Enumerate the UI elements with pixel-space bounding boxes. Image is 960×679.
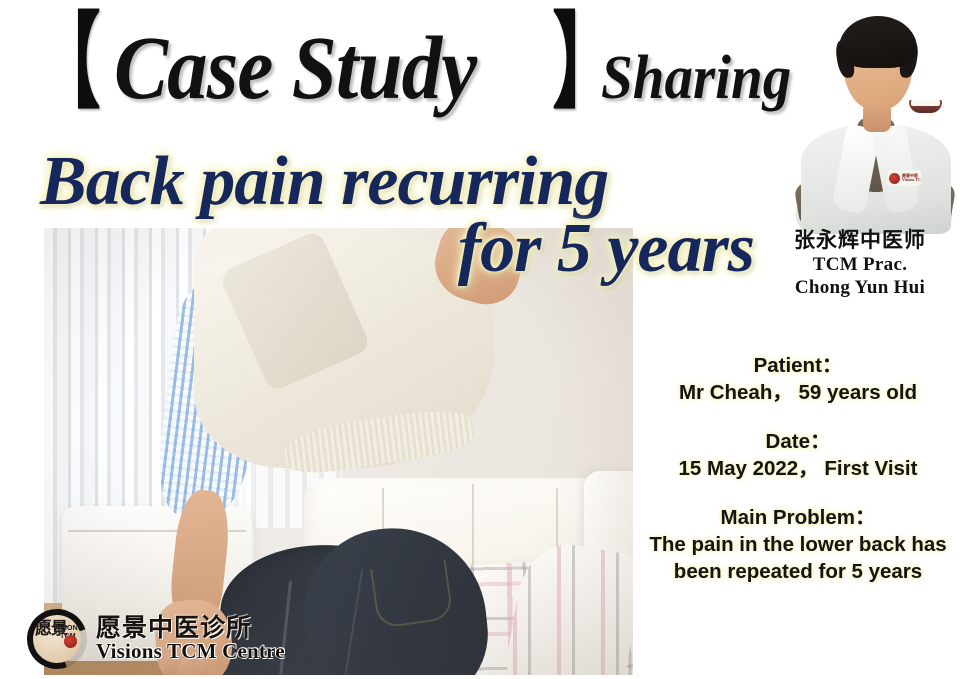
bracket-open-icon: 【	[36, 12, 100, 116]
practitioner-hair	[839, 16, 917, 68]
detail-patient-label: Patient：	[636, 352, 960, 379]
header: 【 Case Study 】 Sharing	[0, 0, 790, 130]
practitioner-role: TCM Prac.	[760, 253, 960, 276]
detail-date-value: 15 May 2022， First Visit	[636, 455, 960, 482]
clinic-logo: 愿景 VISIONS TCM 愿景中医诊所 Visions TCM Centre	[26, 606, 301, 672]
sharing-label: Sharing	[601, 47, 791, 109]
clinic-name-chinese: 愿景中医诊所	[96, 615, 285, 641]
practitioner-smile	[909, 100, 942, 113]
logo-brush-ring	[17, 599, 97, 679]
clinic-name-english: Visions TCM Centre	[96, 640, 285, 663]
clinic-name-block: 愿景中医诊所 Visions TCM Centre	[96, 615, 285, 663]
detail-patient: Patient： Mr Cheah， 59 years old	[636, 352, 960, 406]
detail-main-problem-label: Main Problem：	[636, 504, 960, 531]
enso-circle-logo-icon: 愿景 VISIONS TCM	[26, 608, 88, 670]
detail-patient-value: Mr Cheah， 59 years old	[636, 379, 960, 406]
practitioner-clinic-badge: 愿景中医Visions TCM	[887, 170, 921, 186]
detail-date: Date： 15 May 2022， First Visit	[636, 428, 960, 482]
case-details: Patient： Mr Cheah， 59 years old Date： 15…	[636, 352, 960, 585]
practitioner-photo: 愿景中医Visions TCM	[795, 6, 955, 228]
practitioner-name-block: 张永辉中医师 TCM Prac. Chong Yun Hui	[760, 228, 960, 299]
detail-date-label: Date：	[636, 428, 960, 455]
case-study-label: Case Study	[114, 24, 476, 114]
detail-main-problem: Main Problem： The pain in the lower back…	[636, 504, 960, 585]
title-line-1: Back pain recurring	[0, 146, 770, 217]
badge-text: 愿景中医Visions TCM	[902, 174, 921, 182]
badge-seal-icon	[889, 173, 900, 184]
detail-main-problem-value: The pain in the lower back has been repe…	[636, 531, 960, 585]
practitioner-name-chinese: 张永辉中医师	[760, 228, 960, 253]
header-line: 【 Case Study 】 Sharing	[36, 12, 807, 116]
practitioner-name-english: Chong Yun Hui	[760, 276, 960, 299]
